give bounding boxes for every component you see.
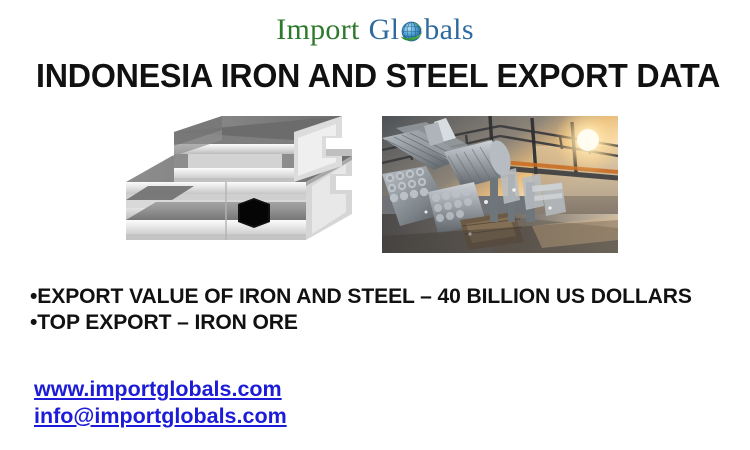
brand-logo-text: Import Gl — [276, 15, 474, 45]
steel-warehouse-photo — [382, 116, 618, 253]
globe-icon — [399, 19, 424, 44]
bullet-export-value: •EXPORT VALUE OF IRON AND STEEL – 40 BIL… — [30, 283, 716, 309]
page-title: INDONESIA IRON AND STEEL EXPORT DATA — [36, 57, 709, 95]
steel-beams-illustration — [126, 116, 352, 256]
brand-word-import: Import — [276, 15, 359, 45]
contact-block: www.importglobals.com info@importglobals… — [34, 376, 287, 430]
email-link[interactable]: info@importglobals.com — [34, 403, 287, 430]
bullet-top-export: •TOP EXPORT – IRON ORE — [30, 309, 716, 335]
website-link[interactable]: www.importglobals.com — [34, 376, 287, 403]
bullet-list: •EXPORT VALUE OF IRON AND STEEL – 40 BIL… — [30, 283, 730, 335]
brand-word-globals-suffix: bals — [424, 15, 474, 45]
brand-logo: Import Gl — [0, 8, 750, 52]
brand-word-globals-prefix: Gl — [369, 15, 400, 45]
